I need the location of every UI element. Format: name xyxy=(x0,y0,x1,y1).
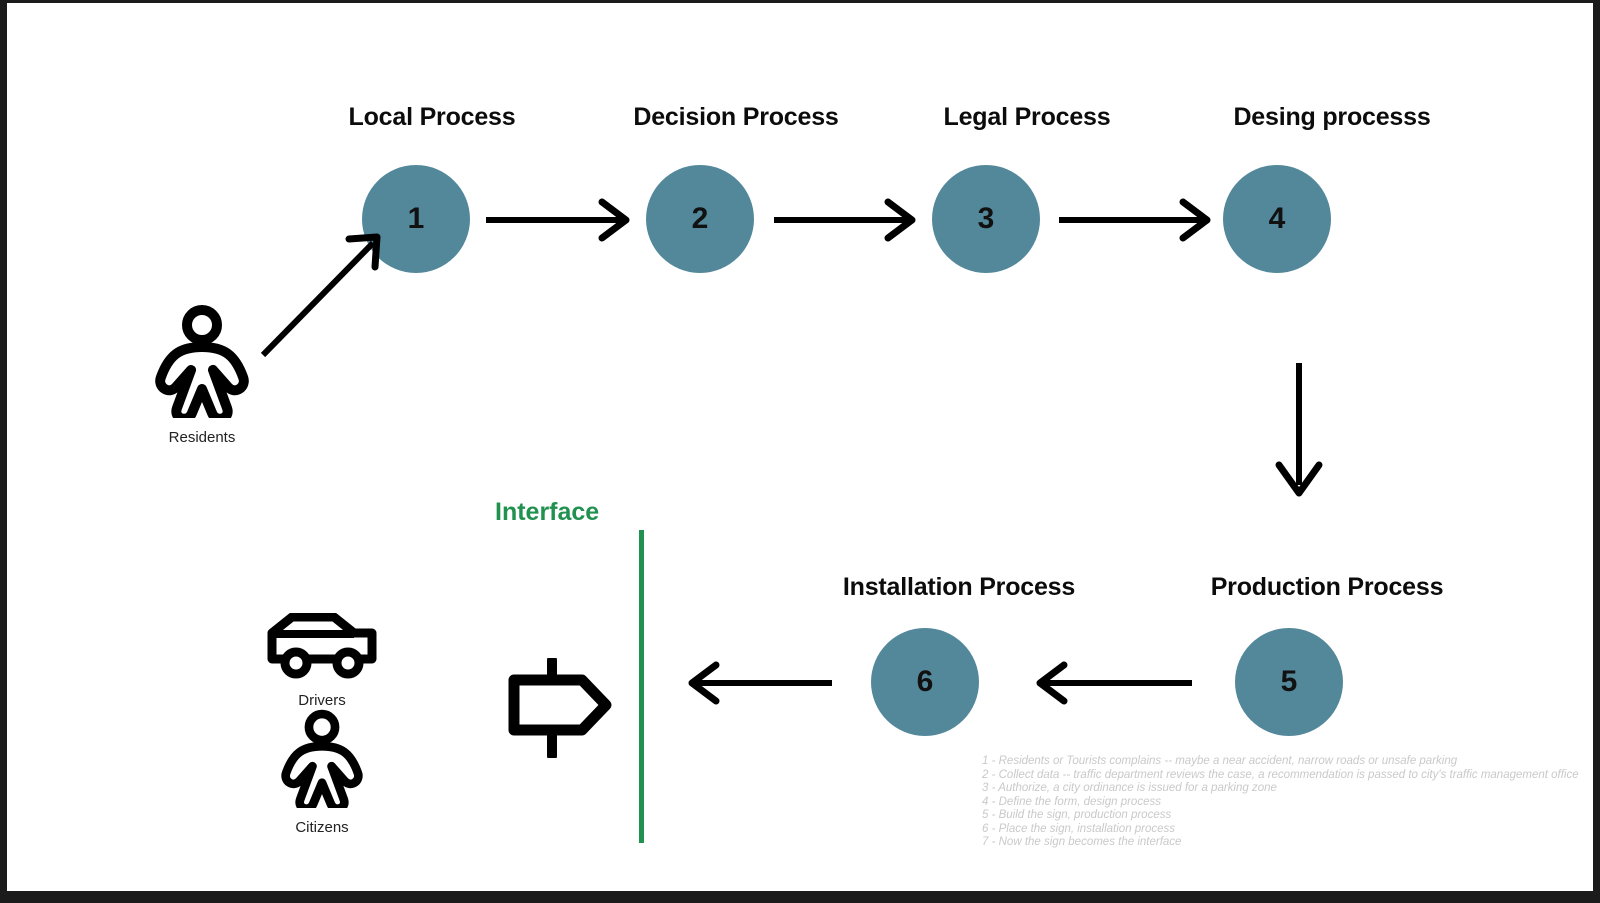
arrow-node6-to-sign xyxy=(672,661,852,706)
node-title-local-process: Local Process xyxy=(332,103,532,132)
process-node-4-number: 4 xyxy=(1269,204,1286,234)
process-node-2-number: 2 xyxy=(692,204,709,234)
signpost-icon xyxy=(502,658,617,758)
process-node-5-number: 5 xyxy=(1281,667,1298,697)
person-icon xyxy=(147,303,257,418)
legend-line-1: 1 - Residents or Tourists complains -- m… xyxy=(982,755,1579,769)
legend-line-7: 7 - Now the sign becomes the interface xyxy=(982,836,1579,850)
car-icon xyxy=(262,613,382,681)
diagram-stage: Local Process Decision Process Legal Pro… xyxy=(7,3,1593,891)
arrow-node1-to-node2 xyxy=(484,198,639,243)
legend-line-4: 4 - Define the form, design process xyxy=(982,796,1579,810)
person-icon xyxy=(274,708,370,808)
process-node-4[interactable]: 4 xyxy=(1223,165,1331,273)
process-node-6-number: 6 xyxy=(917,667,934,697)
frame-edge-left xyxy=(0,0,7,903)
actor-drivers: Drivers xyxy=(257,613,387,709)
actor-citizens: Citizens xyxy=(257,708,387,836)
arrow-node3-to-node4 xyxy=(1057,198,1222,243)
interface-divider-line xyxy=(639,530,644,843)
legend-line-2: 2 - Collect data -- traffic department r… xyxy=(982,769,1579,783)
node-title-production-process: Production Process xyxy=(1187,573,1467,602)
node-title-desing-processs: Desing processs xyxy=(1212,103,1452,132)
node-title-legal-process: Legal Process xyxy=(927,103,1127,132)
process-node-2[interactable]: 2 xyxy=(646,165,754,273)
process-node-3-number: 3 xyxy=(978,204,995,234)
arrow-node2-to-node3 xyxy=(772,198,927,243)
actor-label-citizens: Citizens xyxy=(257,819,387,836)
interface-label: Interface xyxy=(495,498,599,527)
arrow-node5-to-node6 xyxy=(1020,661,1210,706)
actor-label-drivers: Drivers xyxy=(257,692,387,709)
process-node-1-number: 1 xyxy=(408,204,425,234)
diagram-canvas: Local Process Decision Process Legal Pro… xyxy=(0,0,1600,903)
arrow-residents-to-node1 xyxy=(257,231,387,361)
node-title-decision-process: Decision Process xyxy=(611,103,861,132)
process-node-6[interactable]: 6 xyxy=(871,628,979,736)
signpost-icon-wrap xyxy=(502,658,617,763)
legend-line-3: 3 - Authorize, a city ordinance is issue… xyxy=(982,782,1579,796)
node-title-installation-process: Installation Process xyxy=(819,573,1099,602)
actor-residents: Residents xyxy=(137,303,267,446)
frame-edge-bottom xyxy=(0,891,1600,903)
actor-label-residents: Residents xyxy=(137,429,267,446)
process-node-5[interactable]: 5 xyxy=(1235,628,1343,736)
process-node-3[interactable]: 3 xyxy=(932,165,1040,273)
legend-line-6: 6 - Place the sign, installation process xyxy=(982,823,1579,837)
arrow-node4-to-node5 xyxy=(1257,361,1347,511)
legend-notes: 1 - Residents or Tourists complains -- m… xyxy=(982,755,1579,850)
legend-line-5: 5 - Build the sign, production process xyxy=(982,809,1579,823)
frame-edge-right xyxy=(1593,0,1600,903)
